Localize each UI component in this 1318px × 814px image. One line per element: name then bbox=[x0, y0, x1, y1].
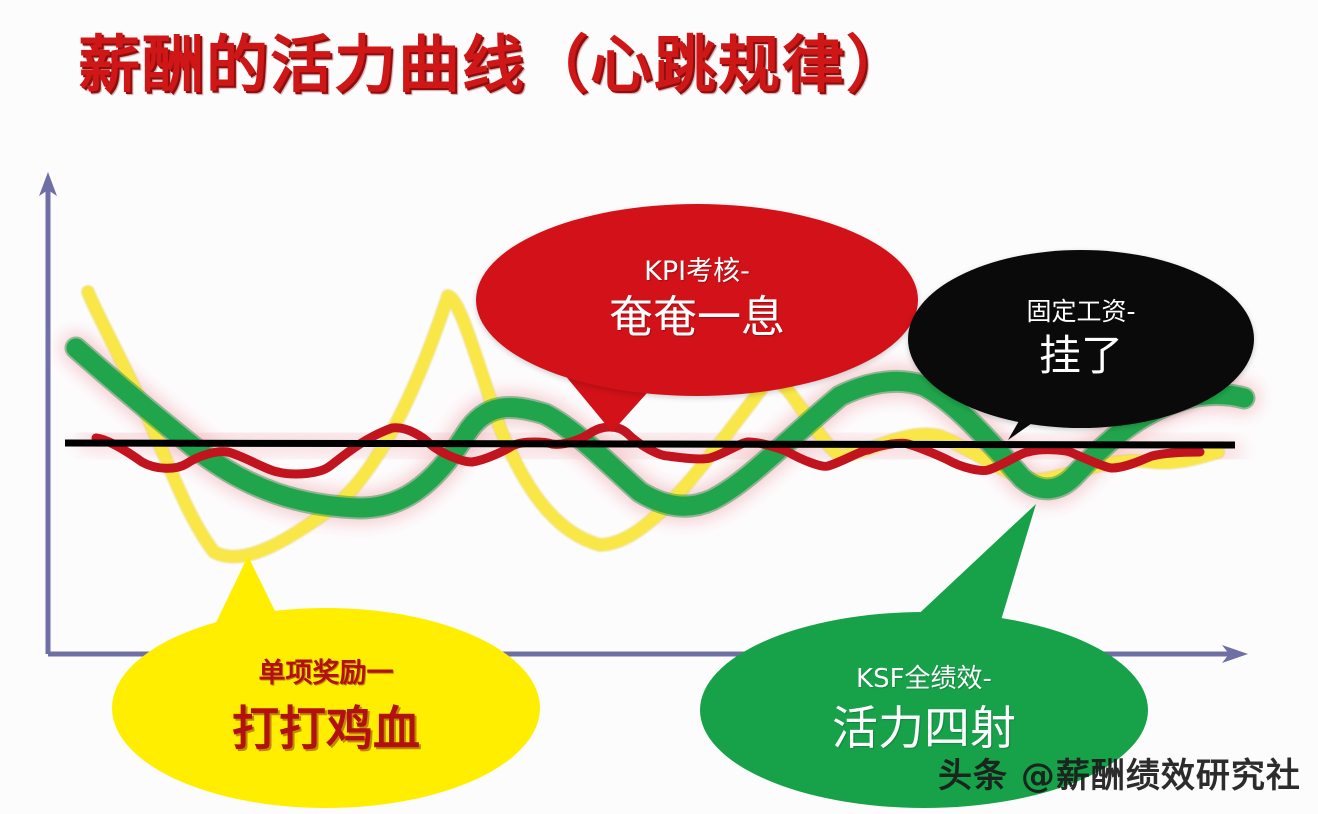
callout-kpi-text: KPI考核- 奄奄一息 bbox=[476, 204, 918, 396]
chart-canvas: 薪酬的活力曲线（心跳规律） bbox=[0, 0, 1318, 814]
callout-kpi[interactable]: KPI考核- 奄奄一息 bbox=[476, 204, 918, 396]
callout-ksf-headline: 活力四射 bbox=[832, 702, 1016, 755]
baseline-black bbox=[65, 443, 1235, 445]
callout-ksf-text: KSF全绩效- 活力四射 bbox=[700, 612, 1148, 808]
callout-ksf-label: KSF全绩效- bbox=[856, 665, 992, 694]
callout-single-bonus-label: 单项奖励一 bbox=[259, 659, 394, 689]
callout-single-bonus[interactable]: 单项奖励一 打打鸡血 bbox=[112, 608, 540, 808]
callout-fixed-salary-headline: 挂了 bbox=[1039, 332, 1123, 380]
callout-fixed-salary-text: 固定工资- 挂了 bbox=[908, 250, 1254, 428]
callout-kpi-label: KPI考核- bbox=[644, 257, 750, 287]
callout-kpi-headline: 奄奄一息 bbox=[609, 293, 785, 344]
callout-ksf[interactable]: KSF全绩效- 活力四射 bbox=[700, 612, 1148, 808]
callout-single-bonus-text: 单项奖励一 打打鸡血 bbox=[112, 608, 540, 808]
callout-single-bonus-headline: 打打鸡血 bbox=[232, 703, 420, 757]
callout-fixed-salary-label: 固定工资- bbox=[1026, 298, 1135, 326]
callout-fixed-salary[interactable]: 固定工资- 挂了 bbox=[908, 250, 1254, 428]
